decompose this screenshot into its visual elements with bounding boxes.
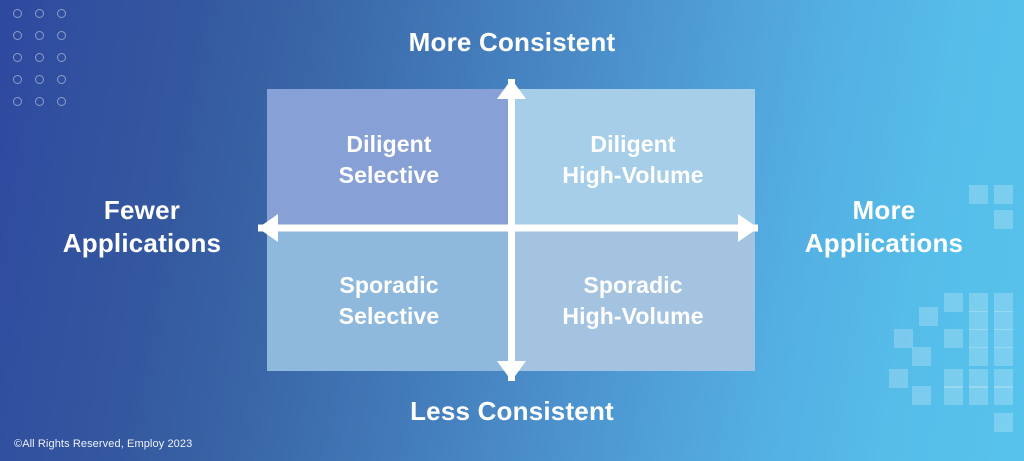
square-dot-icon xyxy=(944,386,963,405)
quadrant-label-line2: High-Volume xyxy=(562,160,703,191)
square-dot-icon xyxy=(894,329,913,348)
circle-dot-icon xyxy=(35,75,44,84)
quadrant-matrix: Diligent Selective Diligent High-Volume … xyxy=(267,89,755,371)
circle-dot-icon xyxy=(13,53,22,62)
quadrant-label-line2: High-Volume xyxy=(562,301,703,332)
square-dot-icon xyxy=(944,293,963,312)
axis-label-top: More Consistent xyxy=(312,26,712,59)
circle-dot-icon xyxy=(35,97,44,106)
quadrant-label-line2: Selective xyxy=(339,301,440,332)
quadrant-label-line1: Diligent xyxy=(346,129,431,160)
circle-dot-icon xyxy=(57,75,66,84)
quadrant-diligent-high-volume[interactable]: Diligent High-Volume xyxy=(511,89,755,230)
circle-dot-icon xyxy=(57,31,66,40)
square-dot-icon xyxy=(994,329,1013,348)
axis-label-right-line2: Applications xyxy=(762,227,1006,260)
square-dot-icon xyxy=(994,311,1013,330)
square-dot-icon xyxy=(994,347,1013,366)
square-dot-icon xyxy=(969,386,988,405)
quadrant-label-line2: Selective xyxy=(339,160,440,191)
square-dot-icon xyxy=(889,369,908,388)
axis-label-left: Fewer Applications xyxy=(20,194,264,260)
axis-label-right: More Applications xyxy=(762,194,1006,260)
quadrant-label-line1: Sporadic xyxy=(339,270,438,301)
axis-label-right-line1: More xyxy=(762,194,1006,227)
copyright-text: ©All Rights Reserved, Employ 2023 xyxy=(14,438,192,450)
quadrant-sporadic-high-volume[interactable]: Sporadic High-Volume xyxy=(511,230,755,371)
square-dot-icon xyxy=(944,329,963,348)
circle-dot-icon xyxy=(57,53,66,62)
square-dot-icon xyxy=(994,386,1013,405)
quadrant-infographic: Diligent Selective Diligent High-Volume … xyxy=(0,0,1024,461)
circle-dot-icon xyxy=(13,31,22,40)
square-dot-icon xyxy=(994,293,1013,312)
quadrant-label-line1: Sporadic xyxy=(583,270,682,301)
axis-label-left-line2: Applications xyxy=(20,227,264,260)
square-dot-icon xyxy=(969,329,988,348)
quadrant-label-line1: Diligent xyxy=(590,129,675,160)
axis-label-left-line1: Fewer xyxy=(20,194,264,227)
circle-dot-icon xyxy=(13,75,22,84)
circle-dot-icon xyxy=(13,9,22,18)
circle-dot-icon xyxy=(35,31,44,40)
axis-label-bottom: Less Consistent xyxy=(312,395,712,428)
circle-dot-icon xyxy=(13,97,22,106)
square-dot-icon xyxy=(969,347,988,366)
circle-dot-icon xyxy=(35,9,44,18)
quadrant-sporadic-selective[interactable]: Sporadic Selective xyxy=(267,230,511,371)
quadrant-diligent-selective[interactable]: Diligent Selective xyxy=(267,89,511,230)
square-dot-icon xyxy=(969,311,988,330)
square-dot-icon xyxy=(919,307,938,326)
square-dot-icon xyxy=(912,386,931,405)
circle-dot-icon xyxy=(35,53,44,62)
decorative-circle-grid xyxy=(0,0,80,112)
square-dot-icon xyxy=(994,413,1013,432)
circle-dot-icon xyxy=(57,9,66,18)
square-dot-icon xyxy=(912,347,931,366)
circle-dot-icon xyxy=(57,97,66,106)
square-dot-icon xyxy=(969,293,988,312)
